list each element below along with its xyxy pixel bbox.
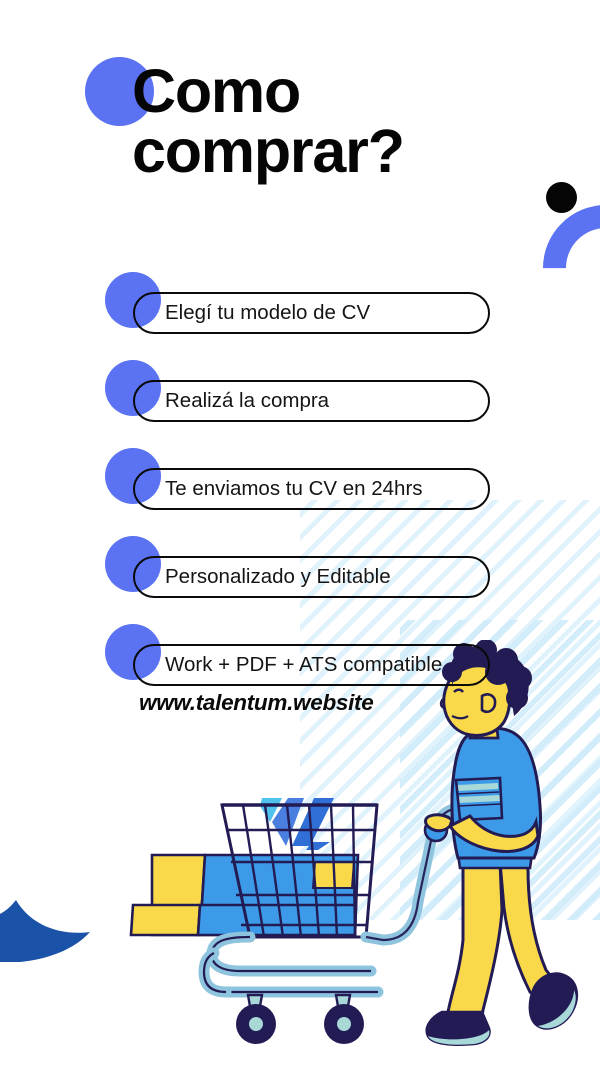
list-item[interactable]: Elegí tu modelo de CV	[0, 272, 600, 360]
cart-wheel-left	[236, 995, 276, 1044]
step-label: Te enviamos tu CV en 24hrs	[165, 468, 423, 510]
shoe-front	[530, 974, 577, 1029]
poster-canvas: Como comprar? Elegí tu modelo de CV Real…	[0, 0, 600, 1066]
list-item[interactable]: Te enviamos tu CV en 24hrs	[0, 448, 600, 536]
step-label: Work + PDF + ATS compatible	[165, 644, 442, 686]
cart-wheel-right	[324, 995, 364, 1044]
list-item[interactable]: Realizá la compra	[0, 360, 600, 448]
ear	[482, 694, 495, 711]
step-label: Elegí tu modelo de CV	[165, 292, 370, 334]
illustration-person-with-cart	[0, 640, 600, 1066]
step-label: Personalizado y Editable	[165, 556, 391, 598]
page-title: Como comprar?	[132, 62, 552, 182]
black-dot-decoration	[546, 182, 577, 213]
person-graphic	[426, 640, 577, 1045]
illustration-svg	[0, 640, 600, 1066]
list-item[interactable]: Personalizado y Editable	[0, 536, 600, 624]
hand	[426, 815, 453, 831]
step-label: Realizá la compra	[165, 380, 329, 422]
shopping-cart-graphic	[131, 805, 462, 1044]
